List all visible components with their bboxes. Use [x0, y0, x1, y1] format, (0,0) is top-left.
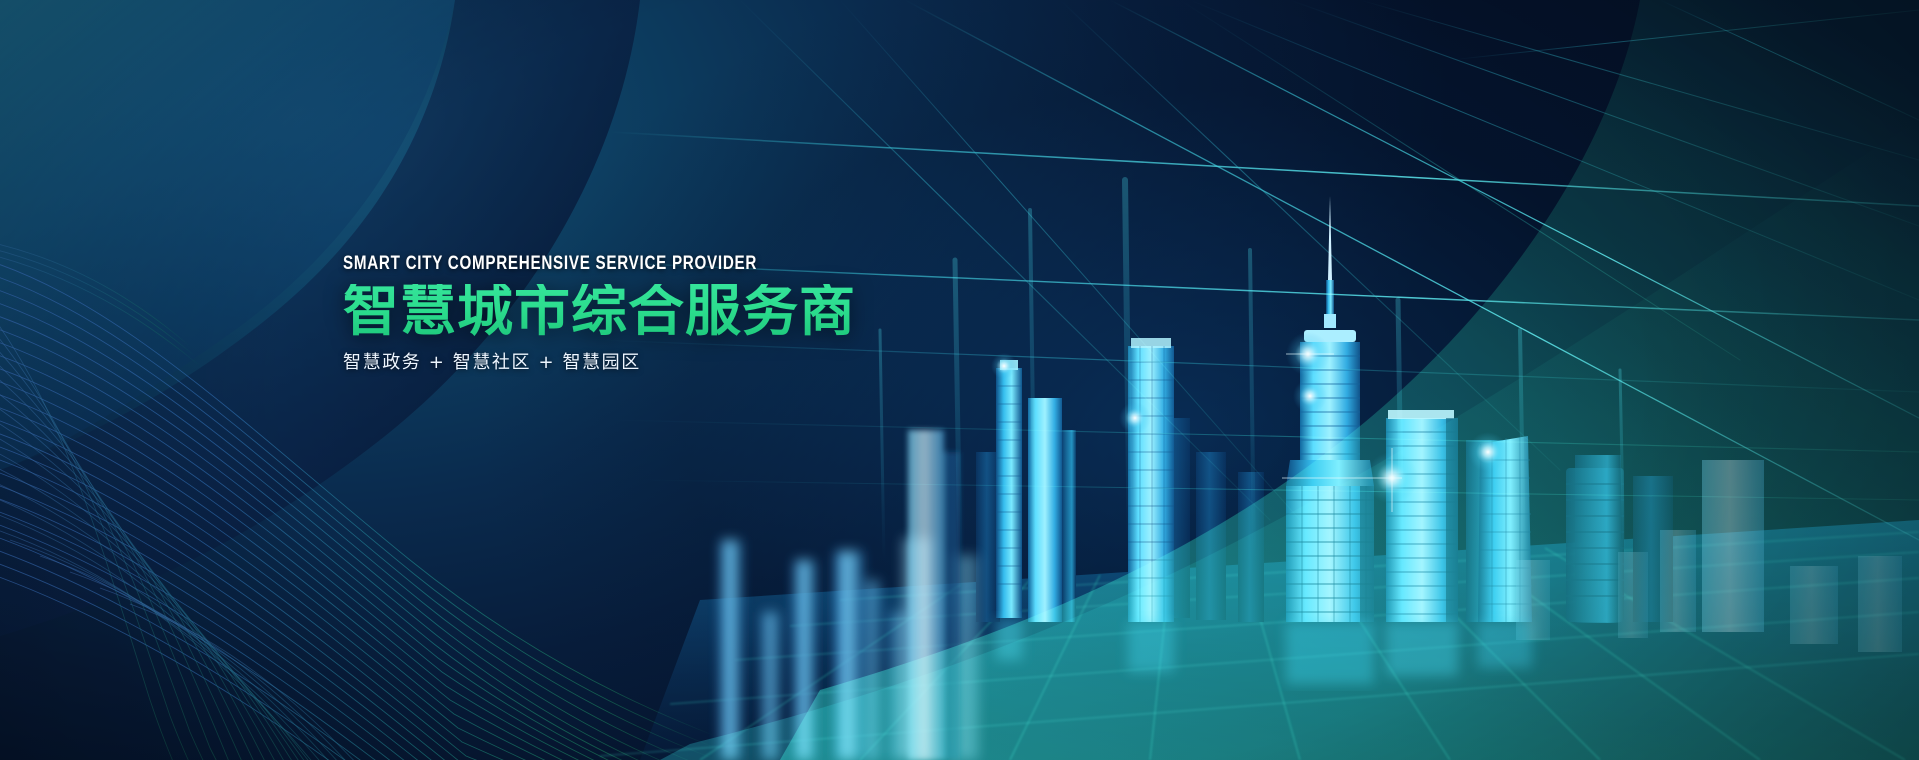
eyebrow-text: SMART CITY COMPREHENSIVE SERVICE PROVIDE…: [343, 254, 951, 273]
foreground-bars: [721, 538, 978, 760]
green-overlay-curve: [0, 0, 1919, 760]
hero-copy-block: SMART CITY COMPREHENSIVE SERVICE PROVIDE…: [343, 254, 1103, 372]
background-sky-gradient: [0, 0, 1919, 760]
vignette-overlay: [0, 0, 1919, 760]
glass-slabs: [1516, 460, 1902, 652]
ground-grid: [600, 520, 1919, 760]
subtitle-text: 智慧政务 + 智慧社区 + 智慧园区: [343, 354, 1103, 372]
page-title: 智慧城市综合服务商: [343, 284, 1103, 340]
background-towers: [976, 398, 1673, 623]
corner-curve-sweep: [0, 0, 1919, 760]
foreground-bars-sharpish: [908, 430, 960, 760]
spire-tower: [1286, 196, 1374, 622]
wireframe-mesh-decoration: [0, 0, 1919, 760]
smart-city-hero-banner: SMART CITY COMPREHENSIVE SERVICE PROVIDE…: [0, 0, 1919, 760]
light-beams: [0, 0, 1919, 760]
city-skyline: [0, 0, 1919, 760]
